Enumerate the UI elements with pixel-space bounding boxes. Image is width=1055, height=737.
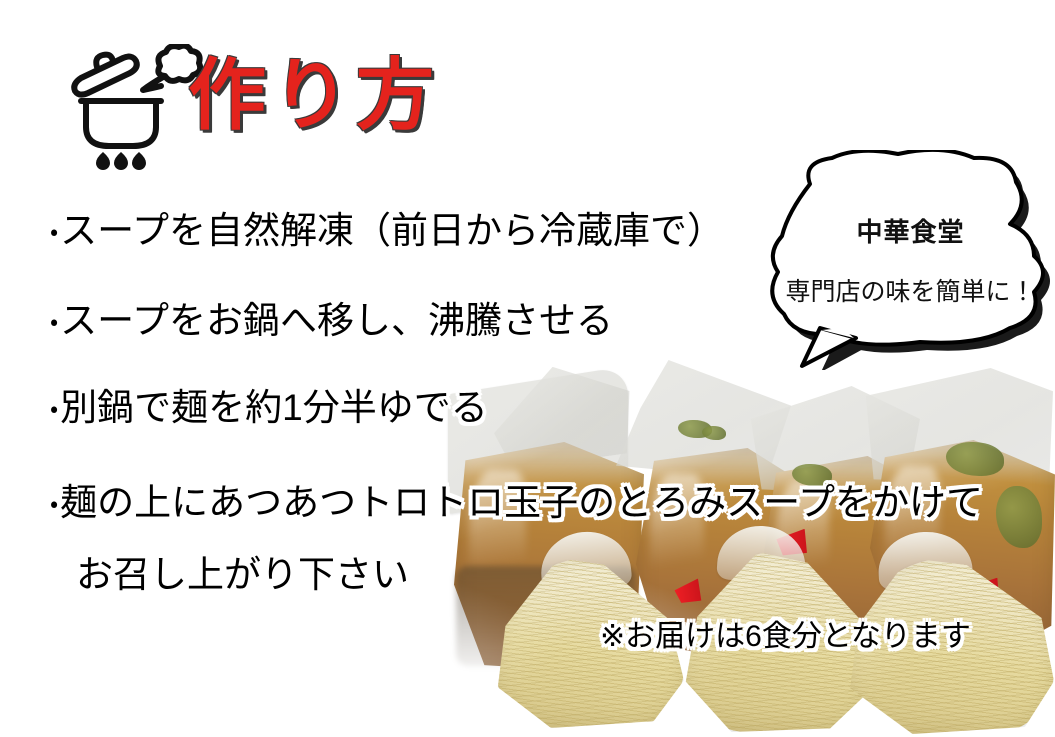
step-item-4: ・麺の上にあつあつトロトロ玉子のとろみスープをかけて	[50, 484, 983, 521]
step-text: 別鍋で麺を約1分半ゆでる	[60, 387, 488, 428]
step-item-3: ・別鍋で麺を約1分半ゆでる	[50, 389, 488, 426]
step-text: 麺の上にあつあつトロトロ玉子のとろみスープをかけて	[60, 482, 983, 523]
step-text: スープを自然解凍（前日から冷蔵庫で）	[60, 210, 724, 251]
flyer-page: 作り方	[0, 0, 1055, 737]
step-text: スープをお鍋へ移し、沸騰させる	[60, 300, 613, 341]
step-bullet: ・	[50, 219, 58, 246]
page-title: 作り方	[188, 56, 440, 134]
step-bullet: ・	[50, 396, 58, 423]
step-item-1: ・スープを自然解凍（前日から冷蔵庫で）	[50, 212, 724, 249]
step-item-2: ・スープをお鍋へ移し、沸騰させる	[50, 302, 613, 339]
step-bullet: ・	[50, 309, 58, 336]
photo-garnish	[702, 426, 726, 440]
product-photo	[440, 356, 1055, 737]
step-text: お召し上がり下さい	[76, 554, 409, 595]
step-bullet: ・	[50, 491, 58, 518]
speech-bubble: 中華食堂 専門店の味を簡単に！	[766, 150, 1055, 370]
step-item-5: お召し上がり下さい	[76, 556, 409, 593]
serving-count-note: ※お届けは6食分となります	[600, 622, 971, 652]
